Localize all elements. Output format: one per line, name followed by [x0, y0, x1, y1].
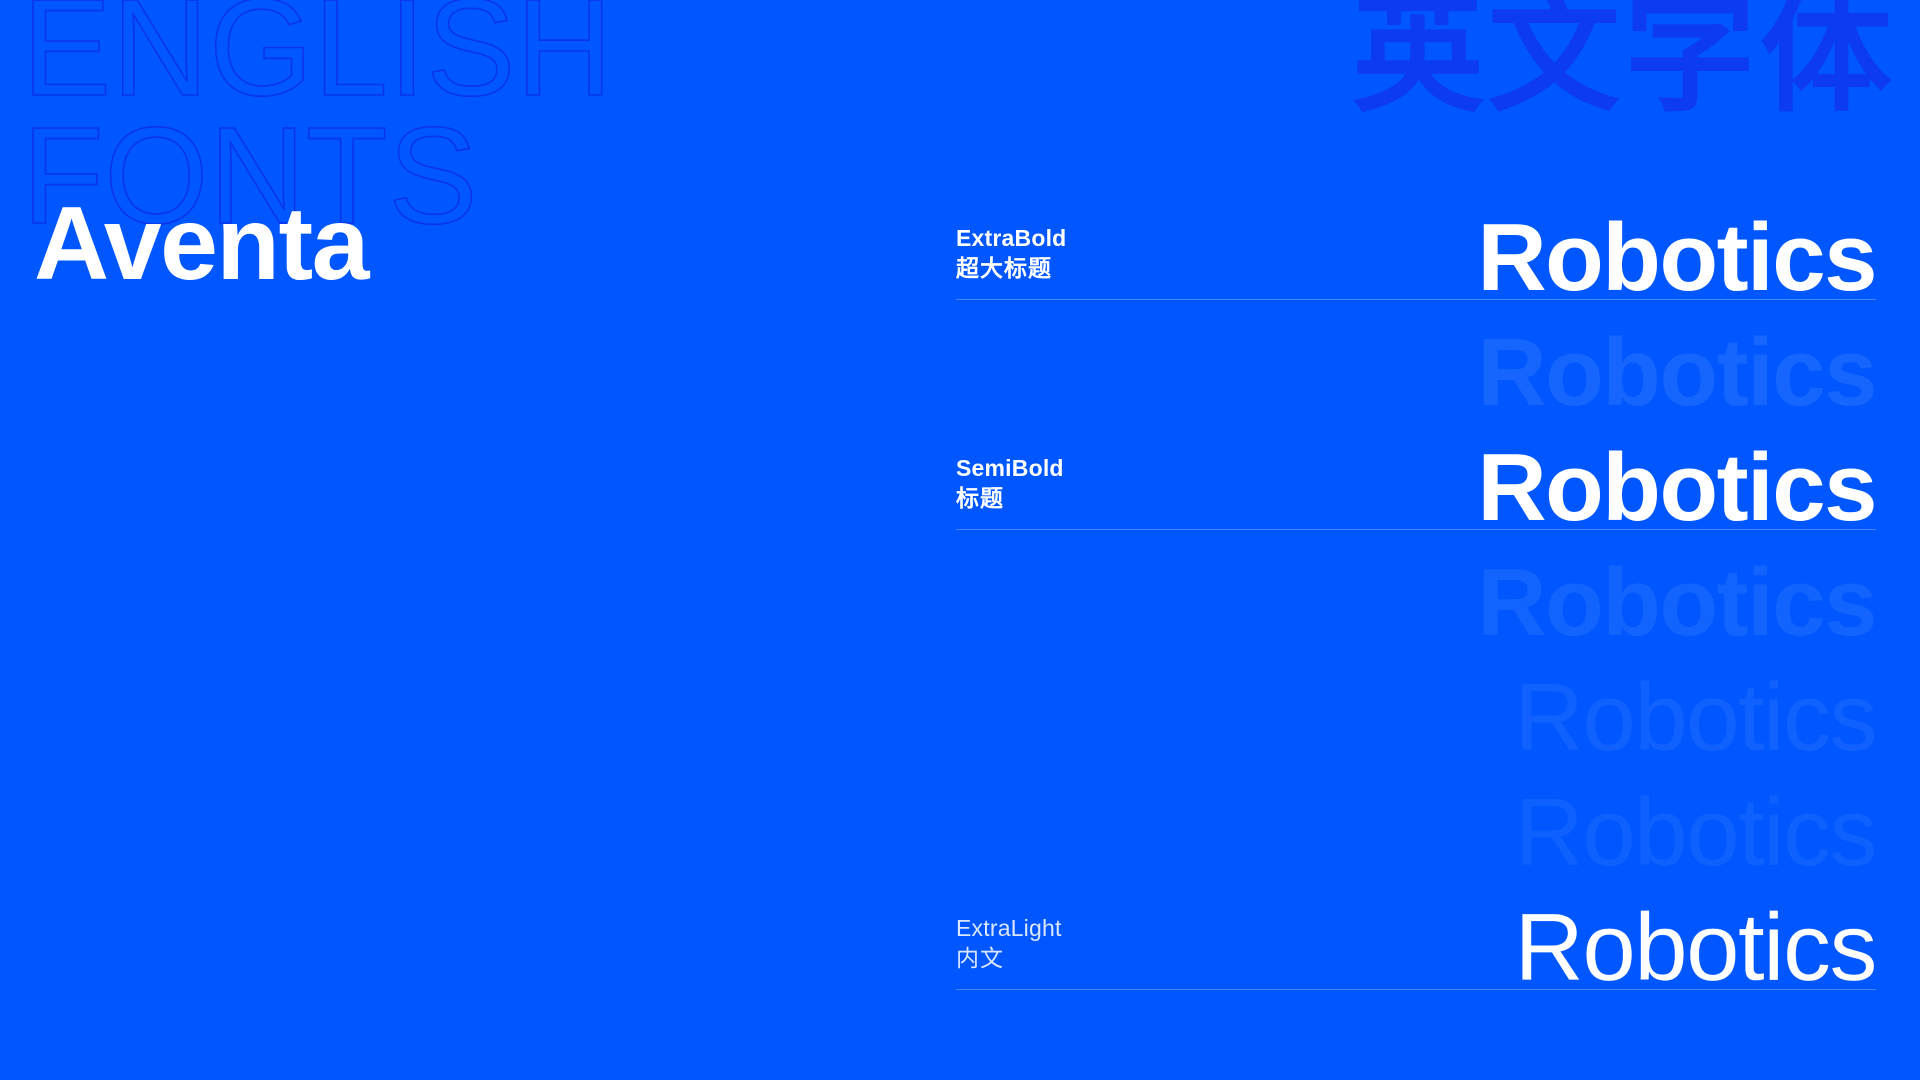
specimen-row-extralight[interactable]: ExtraLight 内文 Robotics [956, 875, 1876, 990]
row-divider [956, 989, 1876, 990]
weight-label-cjk: 超大标题 [956, 254, 1066, 284]
row-divider [956, 299, 1876, 300]
specimen-row-semibold[interactable]: SemiBold 标题 Robotics [956, 415, 1876, 530]
row-divider [956, 529, 1876, 530]
specimen-ghost-row-3: Robotics [956, 645, 1876, 760]
weight-label-latin: ExtraBold [956, 223, 1066, 253]
weight-label-semibold: SemiBold 标题 [956, 453, 1064, 514]
ghost-sample-word-1: Robotics [1477, 325, 1876, 421]
specimen-column: ExtraBold 超大标题 Robotics Robotics SemiBol… [956, 0, 1876, 1080]
weight-label-latin: ExtraLight [956, 913, 1062, 943]
ghost-sample-word-2: Robotics [1477, 555, 1876, 651]
outline-headline-line-1: ENGLISH [22, 0, 779, 112]
ghost-sample-word-3: Robotics [1515, 670, 1877, 766]
sample-word-semibold: Robotics [1477, 440, 1876, 536]
font-family-name: Aventa [34, 192, 368, 296]
specimen-ghost-row-4: Robotics [956, 760, 1876, 875]
specimen-ghost-row-2: Robotics [956, 530, 1876, 645]
specimen-ghost-row-1: Robotics [956, 300, 1876, 415]
specimen-row-extrabold[interactable]: ExtraBold 超大标题 Robotics [956, 185, 1876, 300]
weight-label-extrabold: ExtraBold 超大标题 [956, 223, 1066, 284]
weight-label-extralight: ExtraLight 内文 [956, 913, 1062, 974]
sample-word-extralight: Robotics [1515, 900, 1877, 996]
sample-word-extrabold: Robotics [1477, 210, 1876, 306]
weight-label-latin: SemiBold [956, 453, 1064, 483]
weight-label-cjk: 内文 [956, 944, 1062, 974]
ghost-sample-word-4: Robotics [1515, 785, 1877, 881]
weight-label-cjk: 标题 [956, 484, 1064, 514]
